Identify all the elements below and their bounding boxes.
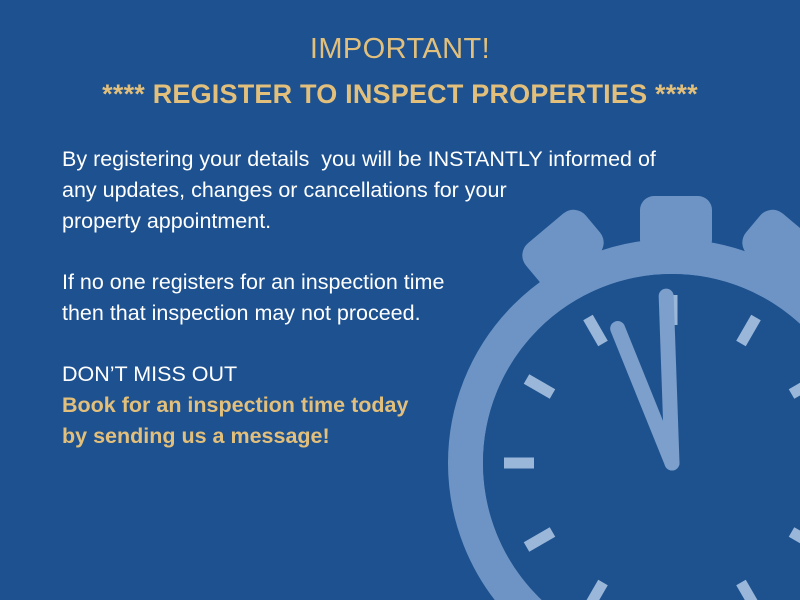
copy-line: property appointment.	[62, 206, 722, 237]
copy-line: any updates, changes or cancellations fo…	[62, 175, 722, 206]
body-copy: By registering your details you will be …	[62, 144, 722, 452]
cta-line-book-inspection: Book for an inspection time today	[62, 390, 722, 421]
slide-canvas: IMPORTANT! **** REGISTER TO INSPECT PROP…	[0, 0, 800, 600]
page-title-register: **** REGISTER TO INSPECT PROPERTIES ****	[0, 74, 800, 114]
cta-line-send-message: by sending us a message!	[62, 421, 722, 452]
copy-line: then that inspection may not proceed.	[62, 298, 722, 329]
heading-block: IMPORTANT! **** REGISTER TO INSPECT PROP…	[0, 30, 800, 114]
copy-line: By registering your details you will be …	[62, 144, 722, 175]
paragraph-call-to-action: DON’T MISS OUT Book for an inspection ti…	[62, 359, 722, 452]
page-title-important: IMPORTANT!	[0, 30, 800, 68]
copy-line: If no one registers for an inspection ti…	[62, 267, 722, 298]
cta-line-dont-miss-out: DON’T MISS OUT	[62, 359, 722, 390]
paragraph-no-registration-warning: If no one registers for an inspection ti…	[62, 267, 722, 329]
clock-lug-right	[736, 203, 800, 295]
paragraph-registering-benefit: By registering your details you will be …	[62, 144, 722, 237]
